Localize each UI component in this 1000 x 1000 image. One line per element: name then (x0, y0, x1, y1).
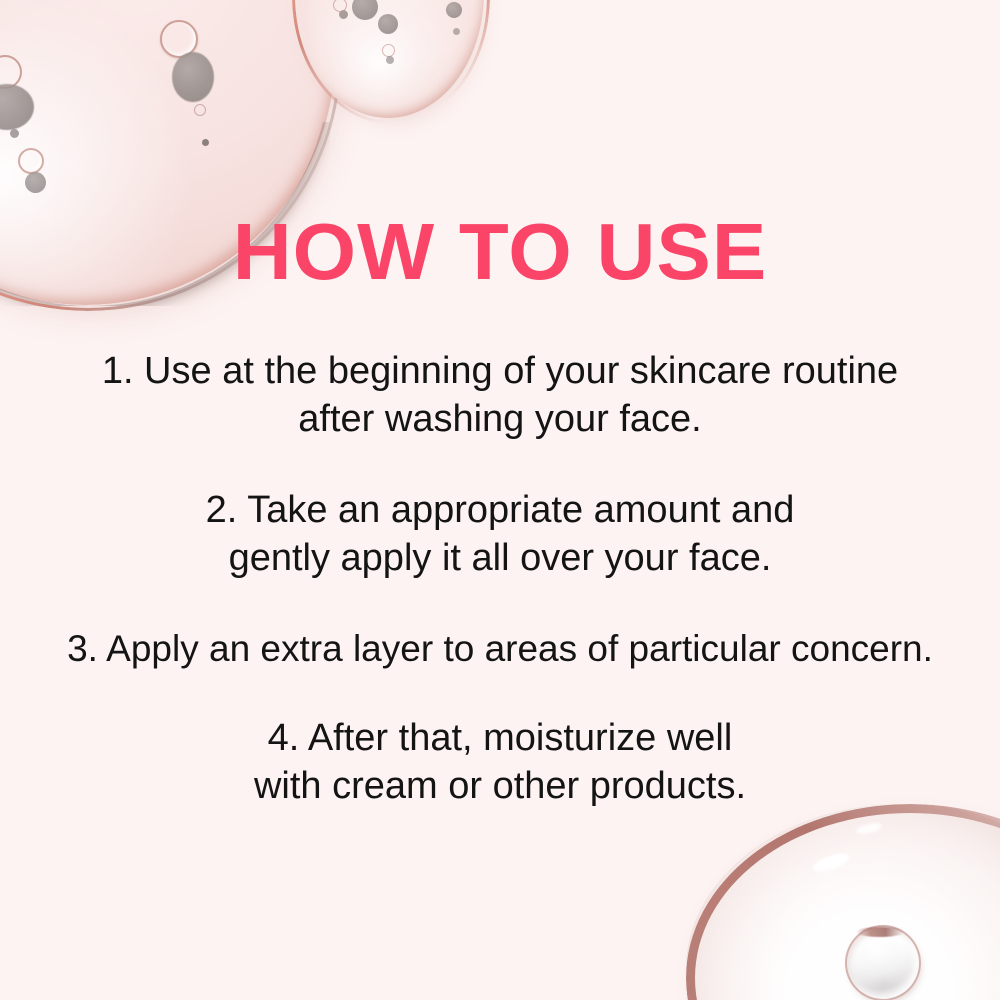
how-to-use-poster: HOW TO USE 1. Use at the beginning of yo… (0, 0, 1000, 1000)
page-title: HOW TO USE (0, 212, 1000, 292)
step-item-3: 3. Apply an extra layer to areas of part… (50, 626, 950, 673)
step-item-1: 1. Use at the beginning of your skincare… (50, 348, 950, 444)
steps-list: 1. Use at the beginning of your skincare… (50, 348, 950, 811)
poster-content: HOW TO USE 1. Use at the beginning of yo… (0, 0, 1000, 1000)
step-item-4: 4. After that, moisturize well with crea… (50, 715, 950, 811)
step-item-2: 2. Take an appropriate amount and gently… (50, 487, 950, 583)
